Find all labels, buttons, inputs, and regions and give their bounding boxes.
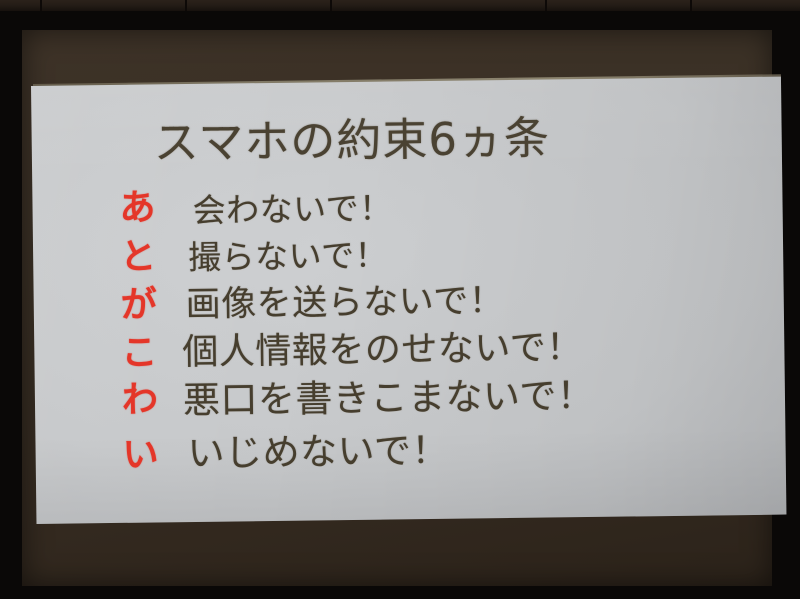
acrostic-kana: こ (116, 335, 162, 372)
projected-slide-area: スマホの約束6ヵ条 あ 会わないで！ と 撮らないで！ が 画像を送らないで！ … (31, 77, 786, 524)
rule-text: 会わないで！ (192, 191, 392, 227)
rule-text: 撮らないで！ (188, 239, 388, 275)
acrostic-kana: あ (114, 190, 160, 227)
rule-text: いじめないで！ (187, 432, 449, 472)
rule-row: い いじめないで！ (35, 420, 786, 485)
acrostic-kana: が (116, 287, 162, 324)
rule-text: 悪口を書きこまないで！ (183, 377, 595, 419)
rule-text: 個人情報をのせないで！ (182, 330, 583, 371)
acrostic-kana: い (117, 437, 163, 474)
slide-rules-list: あ 会わないで！ と 撮らないで！ が 画像を送らないで！ こ 個人情報をのせな… (32, 185, 786, 485)
slide-title: スマホの約束6ヵ条 (153, 101, 550, 171)
acrostic-kana: わ (117, 382, 163, 419)
photograph-of-projected-slide: スマホの約束6ヵ条 あ 会わないで！ と 撮らないで！ が 画像を送らないで！ … (0, 0, 800, 599)
rule-text: 画像を送らないで！ (186, 284, 505, 323)
acrostic-kana: と (115, 239, 161, 276)
